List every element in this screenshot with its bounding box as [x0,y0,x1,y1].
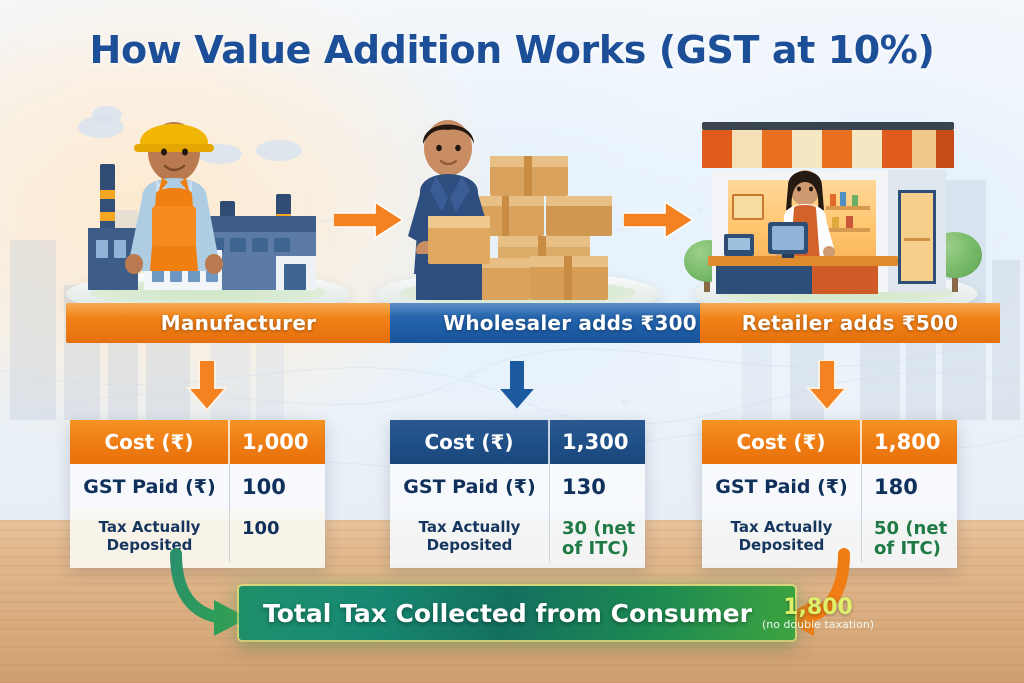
pos-screen [772,226,804,250]
stage-scene-retailer [676,98,996,313]
cost-label: Cost (₹) [702,420,862,464]
gst-value: 130 [550,464,645,510]
stage-banner-manufacturer: Manufacturer [66,303,411,343]
box-top [546,196,612,206]
page-title: How Value Addition Works (GST at 10%) [0,28,1024,72]
infographic-canvas: How Value Addition Works (GST at 10%) [0,0,1024,683]
shop-side-door [898,190,936,284]
total-label: Total Tax Collected from Consumer [263,599,752,628]
total-note: (no double taxation) [762,619,874,631]
flow-arrow-manufacturer-to-wholesaler [333,200,405,240]
cost-label: Cost (₹) [70,420,230,464]
card-terminal-screen [728,238,750,250]
box-top [428,216,490,228]
wholesaler-figure [386,104,516,302]
total-tax-banner: Total Tax Collected from Consumer 1,800 … [239,586,795,640]
gst-label: GST Paid (₹) [70,464,230,510]
stage-scene-manufacturer [48,98,368,313]
table-row: GST Paid (₹) 180 [702,464,957,510]
down-arrow-retailer [806,360,848,412]
shop-product [852,195,858,206]
shop-counter [708,256,898,266]
factory-worker-figure [112,106,237,301]
table-row: Tax Actually Deposited 30 (net of ITC) [390,510,645,568]
data-table-wholesaler: Cost (₹) 1,300 GST Paid (₹) 130 Tax Actu… [390,420,645,568]
factory-door [284,264,306,290]
gst-value: 180 [862,464,957,510]
deposit-value-wrap: 30 (net of ITC) [550,510,645,562]
cost-value: 1,800 [862,420,957,464]
data-table-manufacturer: Cost (₹) 1,000 GST Paid (₹) 100 Tax Actu… [70,420,325,568]
cost-label: Cost (₹) [390,420,550,464]
stage-banner-retailer: Retailer adds ₹500 [700,303,1000,343]
gst-label: GST Paid (₹) [390,464,550,510]
flow-arrow-wholesaler-to-retailer [623,200,695,240]
deposit-value: 30 (net [562,518,635,539]
stage-banner-label: Wholesaler adds ₹300 [443,311,697,335]
factory-window [252,238,268,252]
shop-shelf [904,238,930,241]
box-tape [564,256,572,300]
table-row: Cost (₹) 1,000 [70,420,325,464]
cost-value: 1,300 [550,420,645,464]
gst-value: 100 [230,464,325,510]
table-row: Cost (₹) 1,800 [702,420,957,464]
deposit-value: 100 [242,519,280,539]
deposit-label: Tax Actually Deposited [390,510,550,562]
pos-stand [782,254,794,258]
total-value-group: 1,800 (no double taxation) [762,596,874,631]
wall-picture [732,194,764,220]
awning-bar [702,122,954,130]
deposit-value: 50 (net [874,518,947,539]
smoke-puff-icon [256,140,302,161]
down-arrow-wholesaler [496,360,538,412]
down-arrow-manufacturer [186,360,228,412]
table-row: GST Paid (₹) 130 [390,464,645,510]
deposit-note: of ITC) [562,538,629,559]
shop-counter-base [812,266,878,294]
shop-product [846,216,853,228]
stage-banner-label: Manufacturer [161,311,316,335]
data-table-retailer: Cost (₹) 1,800 GST Paid (₹) 180 Tax Actu… [702,420,957,568]
gst-label: GST Paid (₹) [702,464,862,510]
box-tape [524,156,532,196]
stage-banner-wholesaler: Wholesaler adds ₹300 [390,303,750,343]
shop-counter-base [716,266,812,294]
cost-value: 1,000 [230,420,325,464]
factory-window [96,240,108,258]
stage-banner-label: Retailer adds ₹500 [742,311,958,335]
table-row: GST Paid (₹) 100 [70,464,325,510]
table-row: Cost (₹) 1,300 [390,420,645,464]
total-amount: 1,800 [783,596,853,619]
factory-window [274,238,290,252]
